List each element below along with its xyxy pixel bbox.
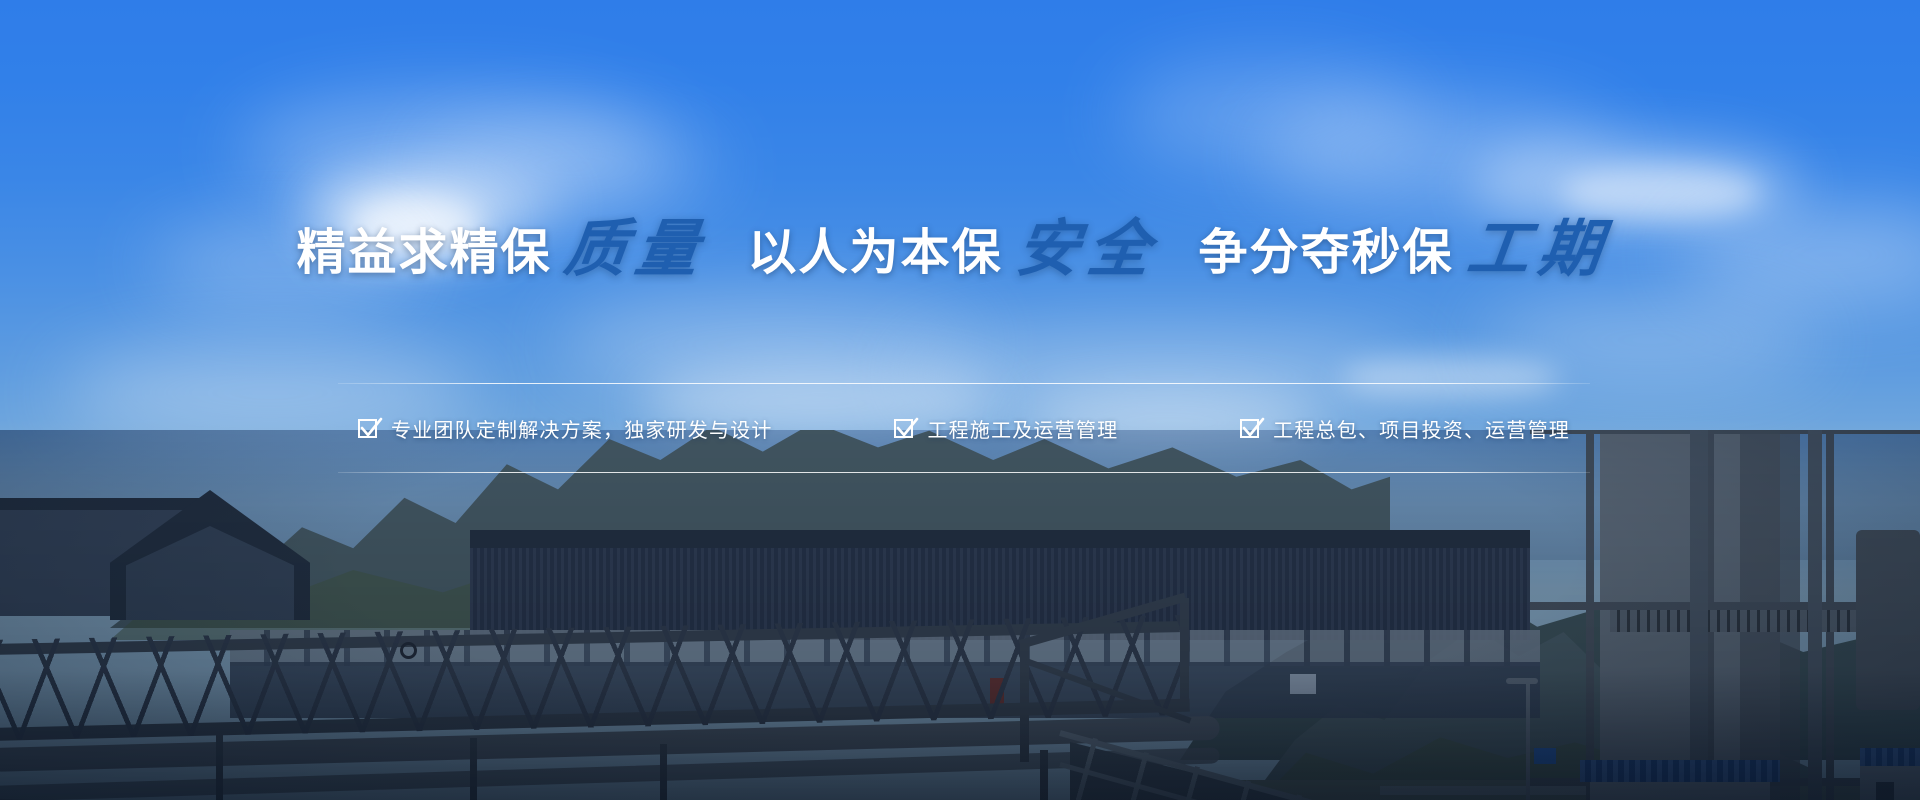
divider-bottom <box>338 472 1590 473</box>
checkbox-checked-icon <box>1240 419 1259 438</box>
feature-label: 专业团队定制解决方案，独家研发与设计 <box>391 414 773 443</box>
headline-segment-5: 争分夺秒保 <box>1199 229 1454 278</box>
photo-vignette <box>0 430 1920 800</box>
headline-segment-1: 精益求精保 <box>296 229 551 278</box>
headline-segment-6: 工期 <box>1450 218 1628 280</box>
feature-item-1: 专业团队定制解决方案，独家研发与设计 <box>358 414 773 443</box>
feature-label: 工程总包、项目投资、运营管理 <box>1273 414 1570 443</box>
feature-label: 工程施工及运营管理 <box>927 414 1118 443</box>
industrial-plant-photo <box>0 430 1920 800</box>
divider-top <box>338 383 1590 384</box>
feature-item-3: 工程总包、项目投资、运营管理 <box>1240 414 1570 443</box>
headline-segment-3: 以人为本保 <box>747 229 1002 278</box>
headline: 精益求精保 质量 以人为本保 安全 争分夺秒保 工期 <box>0 208 1920 298</box>
feature-item-2: 工程施工及运营管理 <box>894 414 1118 443</box>
headline-segment-4: 安全 <box>999 218 1177 280</box>
checkbox-checked-icon <box>358 419 377 438</box>
checkbox-checked-icon <box>894 419 913 438</box>
feature-list: 专业团队定制解决方案，独家研发与设计 工程施工及运营管理 工程总包、项目投资、运… <box>338 400 1590 456</box>
hero-banner: 精益求精保 质量 以人为本保 安全 争分夺秒保 工期 专业团队定制解决方案，独家… <box>0 0 1920 800</box>
cloud <box>1480 300 1820 380</box>
headline-segment-2: 质量 <box>548 218 726 280</box>
